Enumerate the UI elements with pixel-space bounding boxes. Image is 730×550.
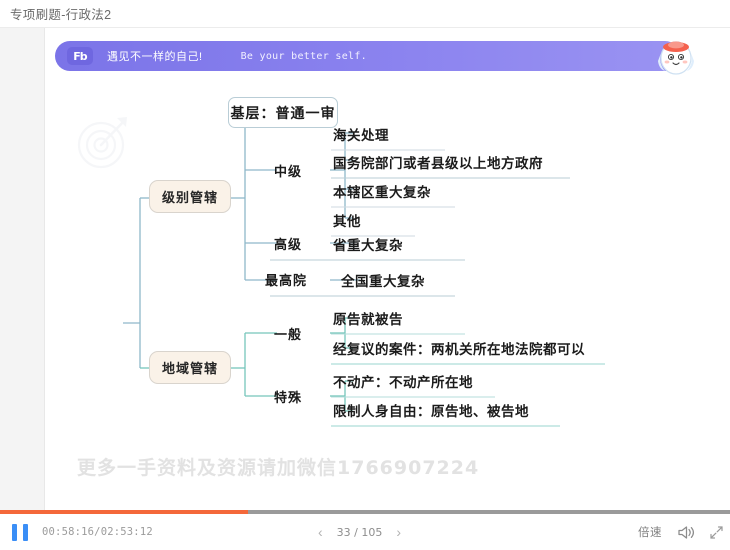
mindmap-node-general[interactable]: 一般	[258, 322, 318, 345]
volume-icon[interactable]	[676, 524, 695, 541]
left-rail	[0, 28, 45, 510]
mindmap: 级别管辖 基层：普通一审 中级 海关处理 国务院部门或者县级以上地方政府 本辖区…	[45, 28, 730, 510]
prev-page-button[interactable]: ‹	[318, 525, 323, 539]
mindmap-node-basic-first-instance[interactable]: 基层：普通一审	[228, 97, 338, 128]
time-display: 00:58:16/02:53:12	[42, 526, 153, 538]
right-controls: 倍速	[638, 514, 724, 550]
video-player-window: 专项刷题-行政法2 Fb 遇见不一样的自己! Be your better se…	[0, 0, 730, 550]
mindmap-leaf-nationwide-major-complex[interactable]: 全国重大复杂	[341, 268, 591, 291]
mindmap-leaf-reconsidered-case[interactable]: 经复议的案件：两机关所在地法院都可以	[333, 336, 613, 359]
mindmap-root-territorial-jurisdiction[interactable]: 地域管辖	[149, 351, 231, 384]
mindmap-leaf-major-complex-in-district[interactable]: 本辖区重大复杂	[333, 179, 583, 202]
mindmap-leaf-personal-liberty-restriction[interactable]: 限制人身自由：原告地、被告地	[333, 398, 613, 421]
playback-speed-button[interactable]: 倍速	[638, 524, 662, 540]
fullscreen-icon[interactable]	[709, 525, 724, 540]
page-count-label: 33 / 105	[337, 526, 383, 539]
video-stage: Fb 遇见不一样的自己! Be your better self.	[0, 28, 730, 510]
next-page-button[interactable]: ›	[396, 525, 401, 539]
mindmap-leaf-real-estate[interactable]: 不动产：不动产所在地	[333, 369, 593, 392]
mindmap-root-level-jurisdiction[interactable]: 级别管辖	[149, 180, 231, 213]
mindmap-node-special[interactable]: 特殊	[258, 385, 318, 408]
mindmap-leaf-customs[interactable]: 海关处理	[333, 122, 583, 145]
page-title: 专项刷题-行政法2	[0, 4, 111, 23]
player-control-bar: 00:58:16/02:53:12 ‹ 33 / 105 › 倍速	[0, 514, 730, 550]
mindmap-leaf-province-major-complex[interactable]: 省重大复杂	[333, 232, 583, 255]
mindmap-leaf-other[interactable]: 其他	[333, 208, 583, 231]
mindmap-leaf-plaintiff-follows-defendant[interactable]: 原告就被告	[333, 306, 593, 329]
mindmap-leaf-state-council-or-county-gov[interactable]: 国务院部门或者县级以上地方政府	[333, 150, 593, 173]
mindmap-node-intermediate[interactable]: 中级	[258, 158, 318, 182]
mindmap-node-supreme-court[interactable]: 最高院	[253, 268, 319, 291]
pause-button[interactable]	[12, 524, 28, 541]
page-navigator: ‹ 33 / 105 ›	[318, 514, 401, 550]
window-title-bar: 专项刷题-行政法2	[0, 0, 730, 28]
mindmap-node-high-court[interactable]: 高级	[258, 232, 318, 255]
wechat-watermark: 更多一手资料及资源请加微信1766907224	[77, 453, 479, 480]
slide-content: Fb 遇见不一样的自己! Be your better self.	[45, 28, 730, 510]
